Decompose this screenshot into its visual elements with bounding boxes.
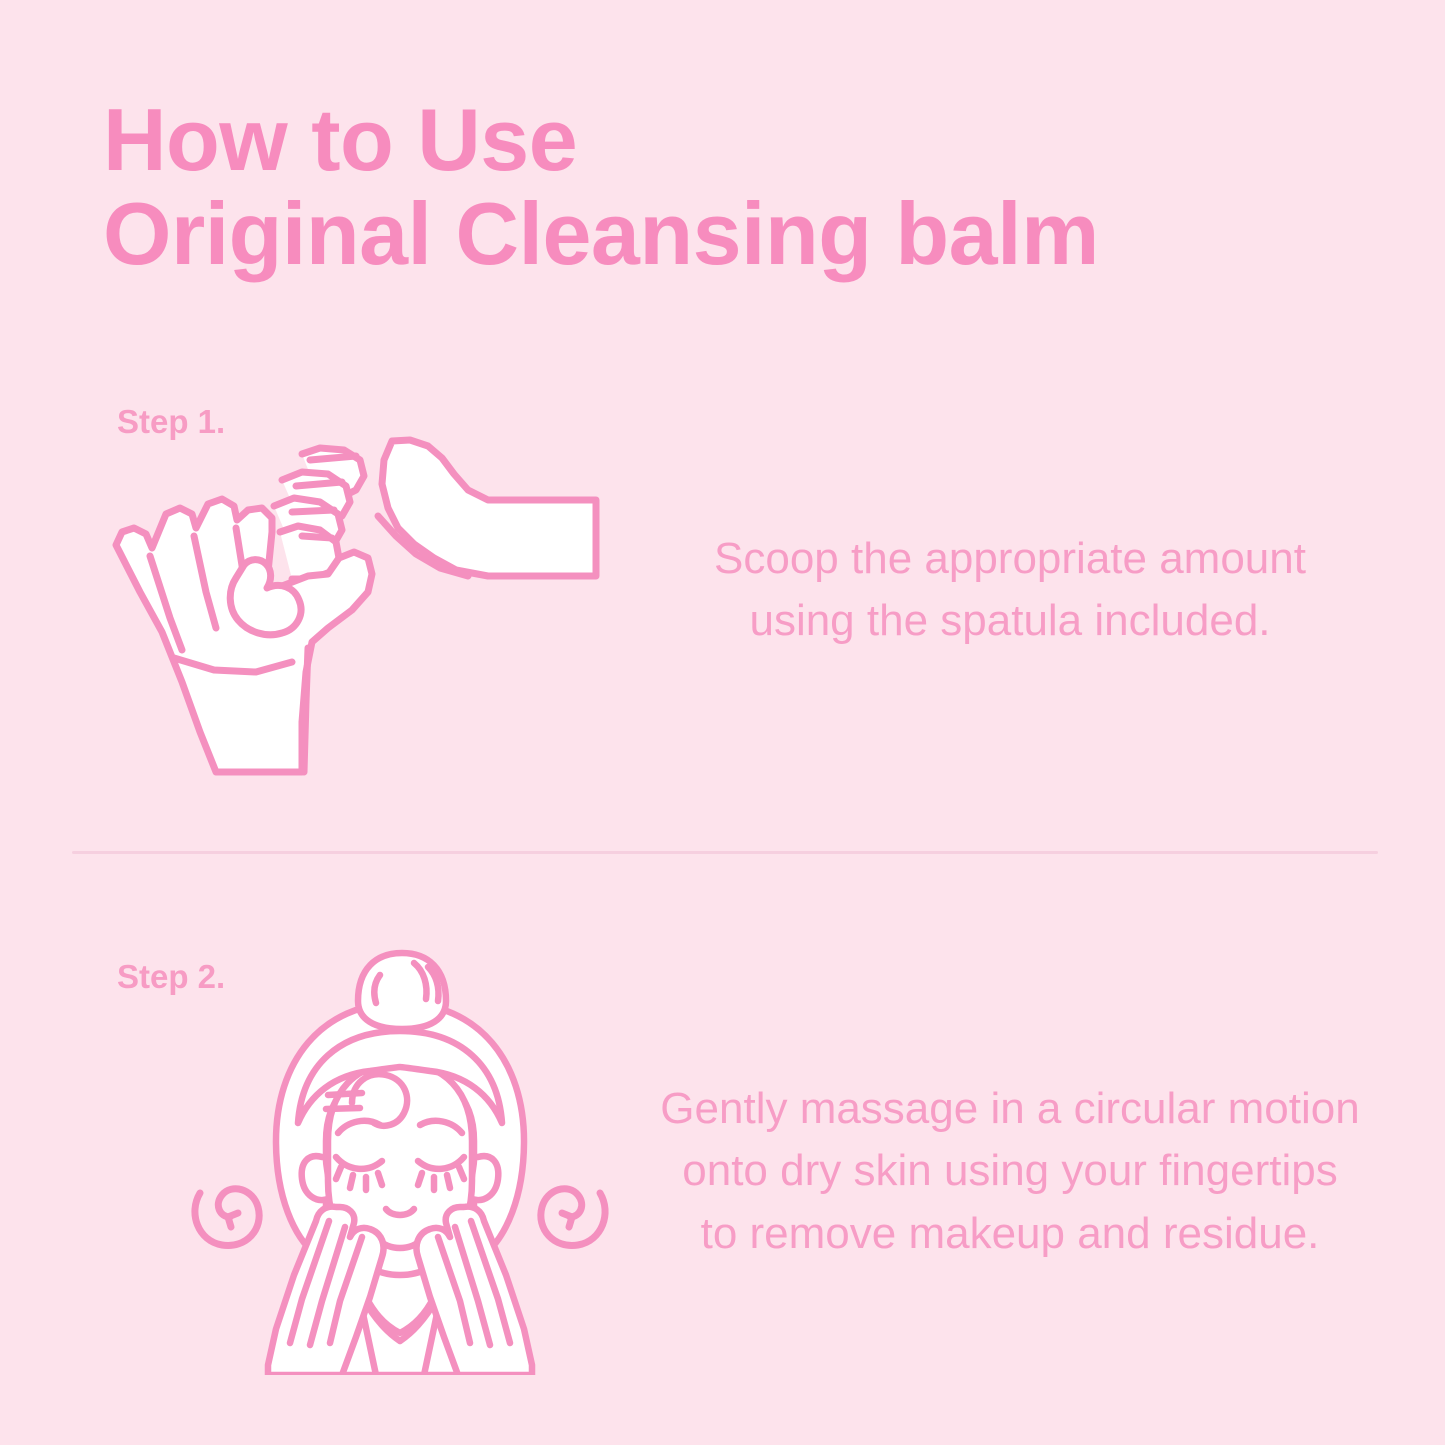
step-1-description: Scoop the appropriate amount using the s… bbox=[660, 528, 1360, 653]
step-2-description-line-1: Gently massage in a circular motion bbox=[640, 1078, 1380, 1140]
step-2-description: Gently massage in a circular motion onto… bbox=[640, 1078, 1380, 1265]
page-title: How to Use Original Cleansing balm bbox=[103, 96, 1203, 278]
how-to-use-infographic: How to Use Original Cleansing balm Step … bbox=[0, 0, 1445, 1445]
title-line-2: Original Cleansing balm bbox=[103, 190, 1203, 278]
hands-scooping-balm-illustration bbox=[96, 432, 626, 802]
spatula-hand-icon bbox=[274, 440, 596, 579]
woman-massaging-face-illustration bbox=[190, 945, 610, 1375]
step-1-description-line-1: Scoop the appropriate amount bbox=[660, 528, 1360, 590]
step-2-description-line-2: onto dry skin using your fingertips bbox=[640, 1140, 1380, 1202]
step-1-description-line-2: using the spatula included. bbox=[660, 590, 1360, 652]
section-divider bbox=[72, 851, 1378, 854]
title-line-1: How to Use bbox=[103, 96, 1203, 184]
clockwise-swirl-arrow-icon bbox=[541, 1189, 605, 1246]
hair-bun bbox=[358, 953, 446, 1029]
step-2-description-line-3: to remove makeup and residue. bbox=[640, 1203, 1380, 1265]
counterclockwise-swirl-arrow-icon bbox=[195, 1189, 259, 1246]
